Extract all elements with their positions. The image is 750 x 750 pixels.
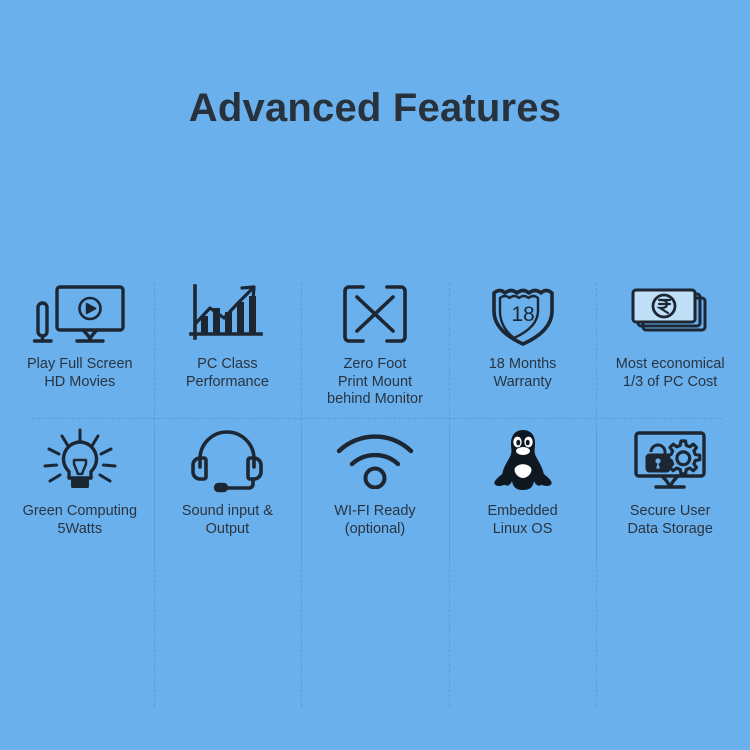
feature-label: 18 Months Warranty xyxy=(485,356,561,391)
feature-label: Sound input & Output xyxy=(178,503,277,538)
column-divider xyxy=(154,430,155,707)
warranty-months-value: 18 xyxy=(511,303,534,326)
features-row-1: Play Full Screen HD Movies xyxy=(6,272,744,419)
feature-cell-play-hd-movies[interactable]: Play Full Screen HD Movies xyxy=(6,272,154,419)
advanced-features-page: Advanced Features xyxy=(0,0,750,750)
feature-label: Secure User Data Storage xyxy=(623,503,716,538)
brackets-x-icon xyxy=(341,280,409,348)
column-divider xyxy=(301,430,302,707)
bar-chart-growth-icon xyxy=(188,280,266,348)
feature-cell-warranty[interactable]: 18 18 Months Warranty xyxy=(449,272,597,419)
lightbulb-rays-icon xyxy=(40,427,120,495)
feature-label: Embedded Linux OS xyxy=(484,503,562,538)
feature-label: Zero Foot Print Mount behind Monitor xyxy=(323,356,427,409)
wifi-signal-icon xyxy=(333,427,417,495)
feature-cell-wifi-ready[interactable]: WI-FI Ready (optional) xyxy=(301,419,449,566)
feature-cell-pc-class-performance[interactable]: PC Class Performance xyxy=(154,272,302,419)
feature-label: PC Class Performance xyxy=(182,356,273,391)
feature-cell-sound-io[interactable]: Sound input & Output xyxy=(154,419,302,566)
monitor-play-thinclient-icon xyxy=(31,280,129,348)
shield-18-icon: 18 xyxy=(488,280,558,348)
features-row-2: Green Computing 5Watts Sound input & xyxy=(6,419,744,566)
headset-microphone-icon xyxy=(188,427,266,495)
monitor-lock-gear-icon xyxy=(628,427,712,495)
feature-cell-green-computing[interactable]: Green Computing 5Watts xyxy=(6,419,154,566)
feature-cell-zero-footprint[interactable]: Zero Foot Print Mount behind Monitor xyxy=(301,272,449,419)
linux-penguin-icon xyxy=(490,427,556,495)
feature-cell-embedded-linux[interactable]: Embedded Linux OS xyxy=(449,419,597,566)
feature-cell-secure-storage[interactable]: Secure User Data Storage xyxy=(596,419,744,566)
feature-label: Play Full Screen HD Movies xyxy=(23,356,137,391)
column-divider xyxy=(596,430,597,707)
feature-label: Most economical 1/3 of PC Cost xyxy=(612,356,729,391)
feature-label: Green Computing 5Watts xyxy=(19,503,141,538)
page-title: Advanced Features xyxy=(0,88,750,128)
feature-label: WI-FI Ready (optional) xyxy=(330,503,419,538)
features-grid: Play Full Screen HD Movies xyxy=(6,272,744,567)
feature-cell-most-economical[interactable]: Most economical 1/3 of PC Cost xyxy=(596,272,744,419)
row-divider xyxy=(32,418,722,419)
column-divider xyxy=(449,430,450,707)
money-stack-rupee-icon xyxy=(627,280,713,348)
